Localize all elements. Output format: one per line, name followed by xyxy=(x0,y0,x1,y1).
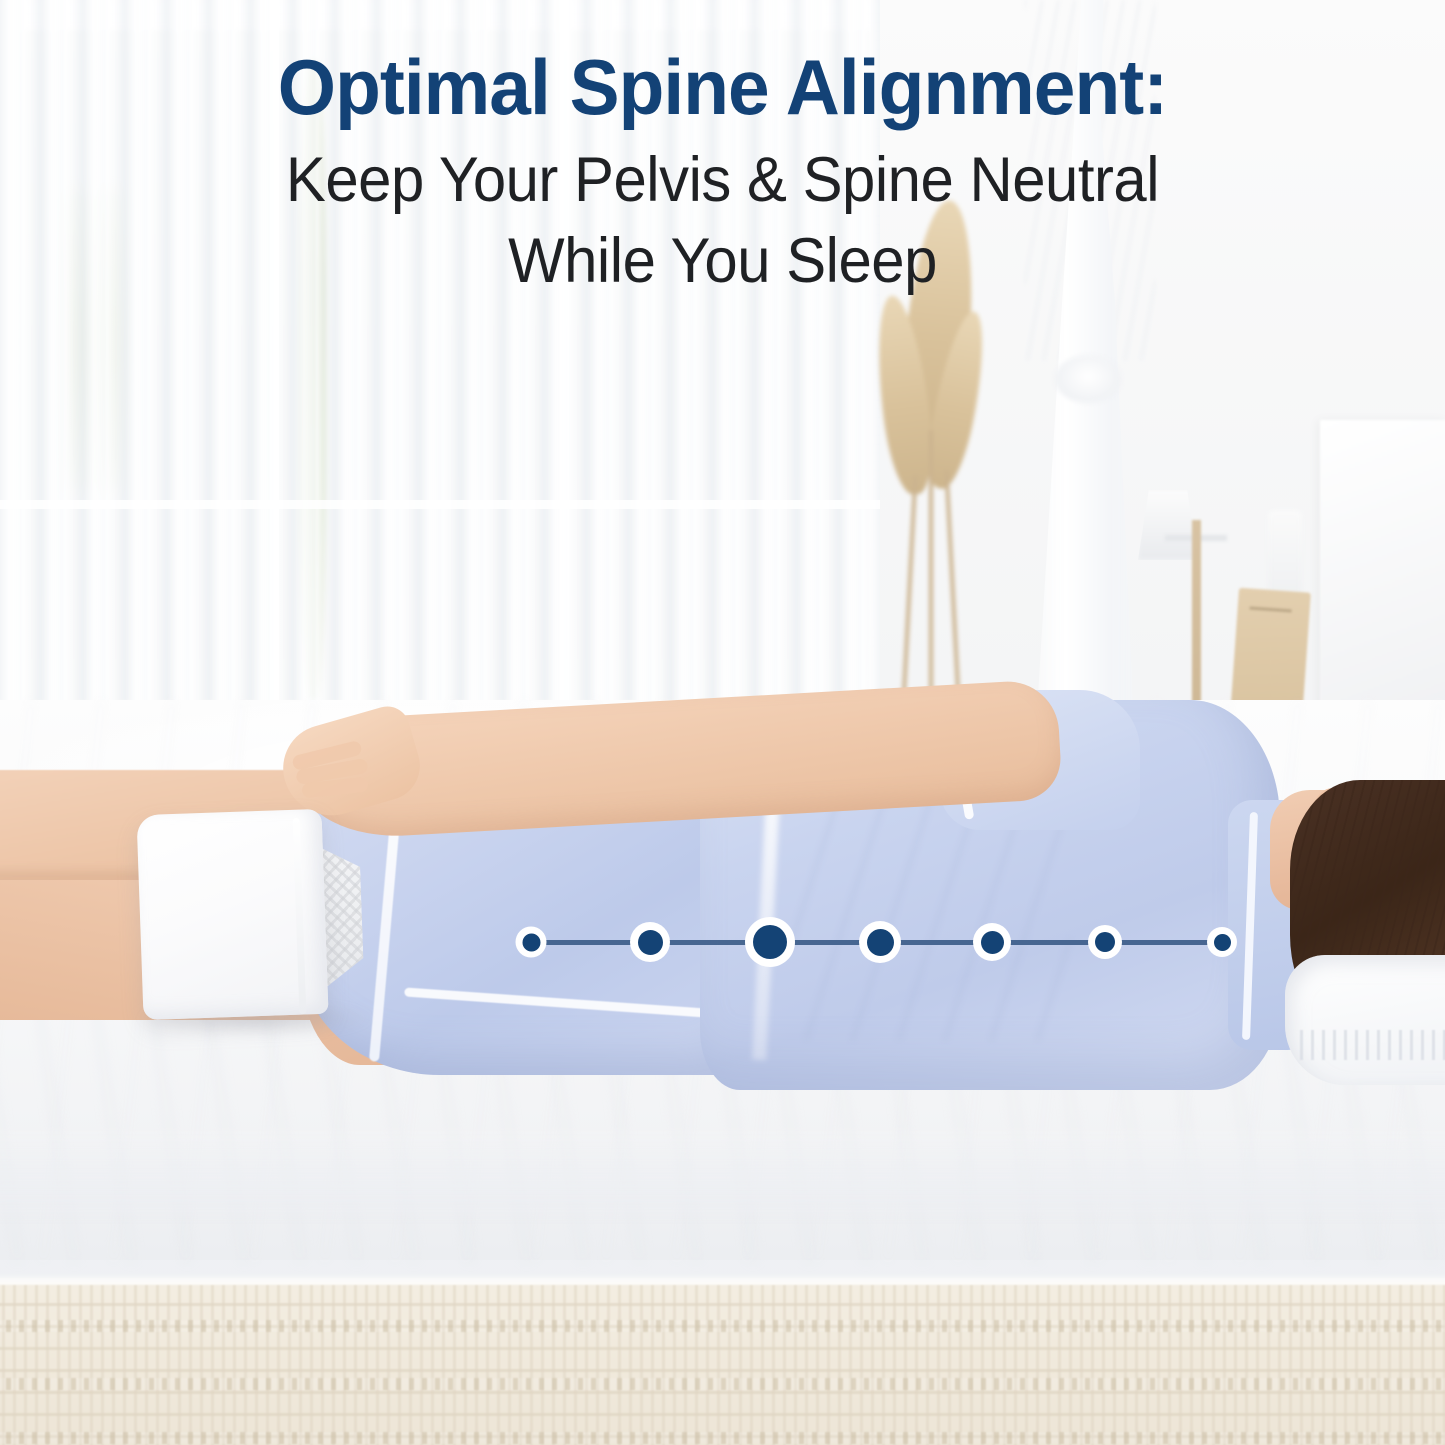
kraft-line xyxy=(1250,607,1292,613)
curtain-knot xyxy=(1055,355,1121,403)
pampas-stem xyxy=(944,470,961,720)
white-head-pillow xyxy=(1285,955,1445,1085)
pajama-folds xyxy=(790,800,1070,1040)
pillow-lace-trim xyxy=(1300,1030,1445,1060)
window-mullion-horizontal xyxy=(0,500,880,509)
subtitle-line-2: While You Sleep xyxy=(36,221,1409,302)
subtitle-line-1: Keep Your Pelvis & Spine Neutral xyxy=(36,140,1409,221)
product-lifestyle-image: Optimal Spine Alignment: Keep Your Pelvi… xyxy=(0,0,1445,1445)
pampas-stem xyxy=(901,475,918,720)
leaning-canvas-art xyxy=(1320,420,1445,720)
headline-block: Optimal Spine Alignment: Keep Your Pelvi… xyxy=(0,0,1445,301)
cream-knit-blanket xyxy=(0,1285,1445,1445)
knit-blanket-band xyxy=(0,1378,1445,1390)
pampas-stem xyxy=(929,430,933,720)
page-subtitle: Keep Your Pelvis & Spine Neutral While Y… xyxy=(36,126,1409,301)
page-title: Optimal Spine Alignment: xyxy=(29,0,1416,126)
duvet-edge xyxy=(0,1130,1445,1210)
knit-blanket-band xyxy=(0,1320,1445,1332)
knit-blanket-band xyxy=(0,1432,1445,1444)
